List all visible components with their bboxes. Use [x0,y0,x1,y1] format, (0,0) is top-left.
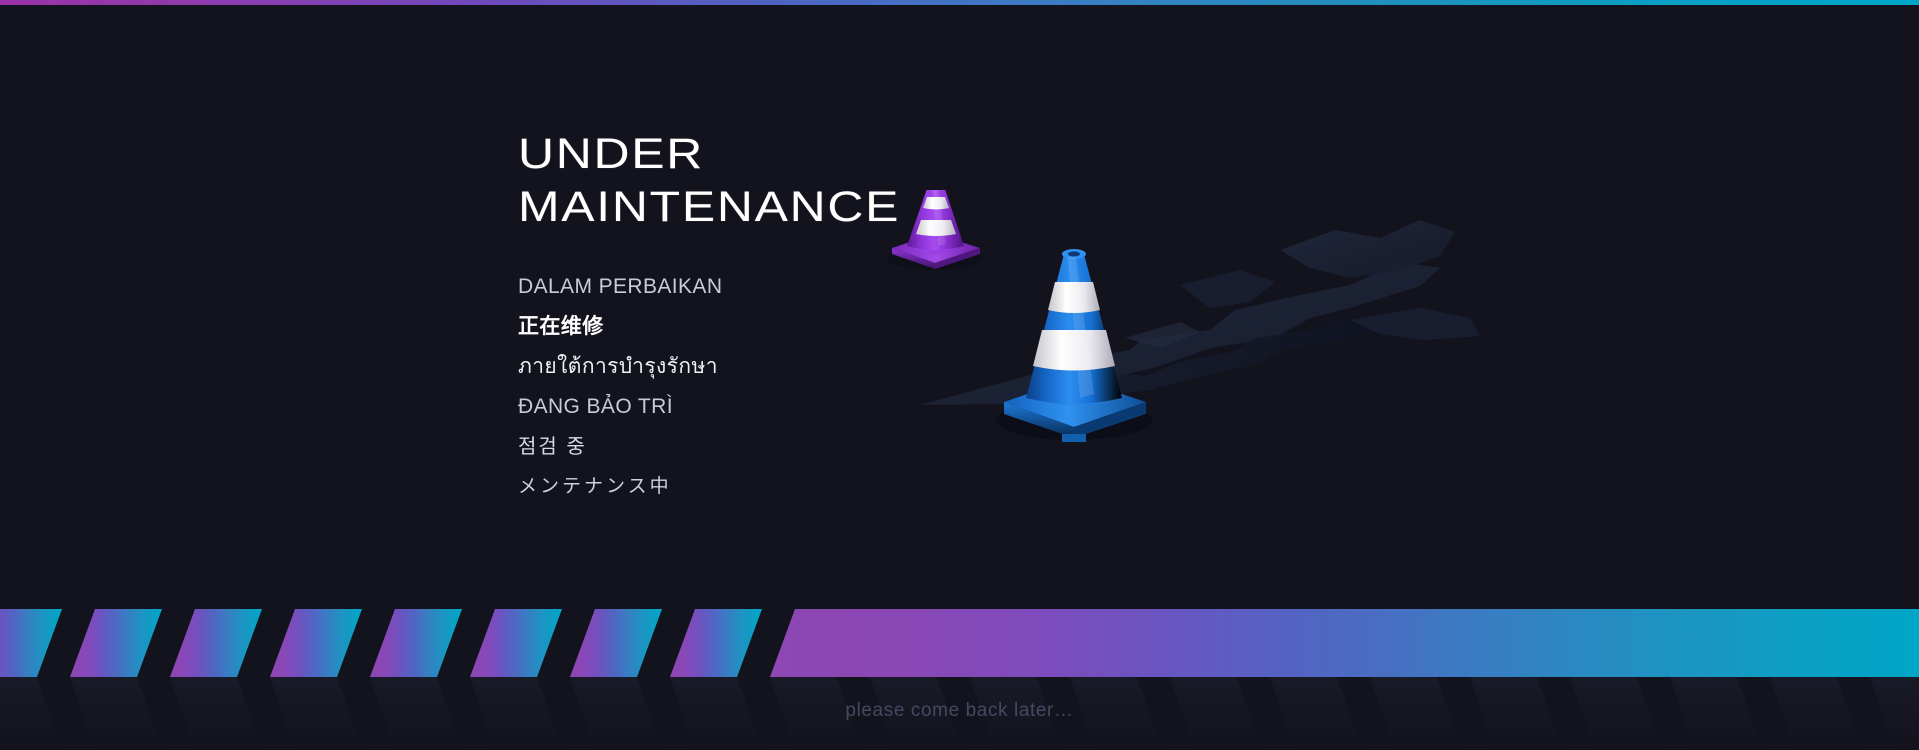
traffic-cone-purple-icon [887,190,983,270]
translation-thai: ภายใต้การบำรุงรักษา [518,347,847,387]
translation-vietnamese: ĐANG BẢO TRÌ [518,387,847,427]
footer-note: please come back later… [0,700,1919,722]
top-gradient-bar [0,0,1919,5]
traffic-cone-blue-icon [996,249,1152,442]
translation-indonesian: DALAM PERBAIKAN [518,267,847,307]
translation-korean: 점검 중 [518,427,847,467]
hazard-stripe-band [0,609,1919,677]
maintenance-scene [880,190,1500,520]
hero-text-block: UNDER MAINTENANCE DALAM PERBAIKAN 正在维修 ภ… [518,128,847,507]
translation-list: DALAM PERBAIKAN 正在维修 ภายใต้การบำรุงรักษา… [518,267,847,507]
translation-chinese: 正在维修 [518,307,847,347]
translation-japanese: メンテナンス中 [518,467,847,507]
page-title: UNDER MAINTENANCE [518,128,900,234]
ground-crack-icon [920,220,1480,405]
